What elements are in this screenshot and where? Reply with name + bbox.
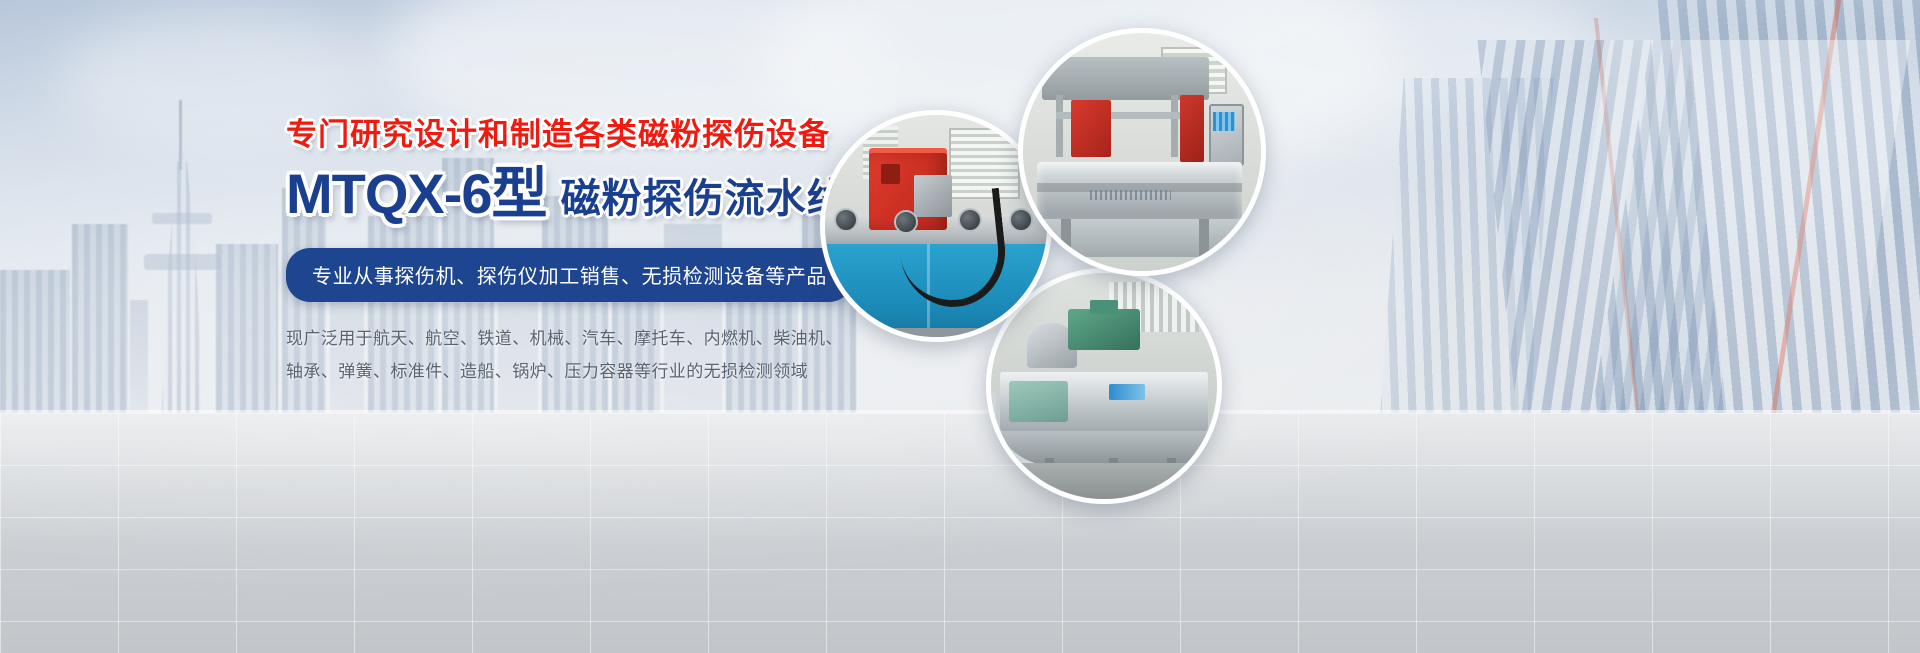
- banner-description-line-2: 轴承、弹簧、标准件、造船、锅炉、压力容器等行业的无损检测领域: [286, 355, 826, 388]
- banner-copy: 专门研究设计和制造各类磁粉探伤设备 MTQX-6型 磁粉探伤流水线 专业从事探伤…: [286, 118, 826, 388]
- photo-stainless-inspection-tank: [1023, 33, 1261, 271]
- hero-banner: 专门研究设计和制造各类磁粉探伤设备 MTQX-6型 磁粉探伤流水线 专业从事探伤…: [0, 0, 1920, 653]
- banner-headline: 专门研究设计和制造各类磁粉探伤设备: [286, 118, 826, 152]
- photo-magnetic-particle-machine-blue-red: [825, 115, 1047, 337]
- banner-services-pill: 专业从事探伤机、探伤仪加工销售、无损检测设备等产品: [286, 248, 853, 302]
- banner-title-product: 磁粉探伤流水线: [561, 179, 848, 222]
- photo-circle-stainless-inspection-tank: [1018, 28, 1266, 276]
- banner-description-line-1: 现广泛用于航天、航空、铁道、机械、汽车、摩托车、内燃机、柴油机、: [286, 322, 826, 355]
- banner-title-row: MTQX-6型 磁粉探伤流水线: [286, 166, 826, 222]
- banner-title-model: MTQX-6型: [286, 166, 547, 222]
